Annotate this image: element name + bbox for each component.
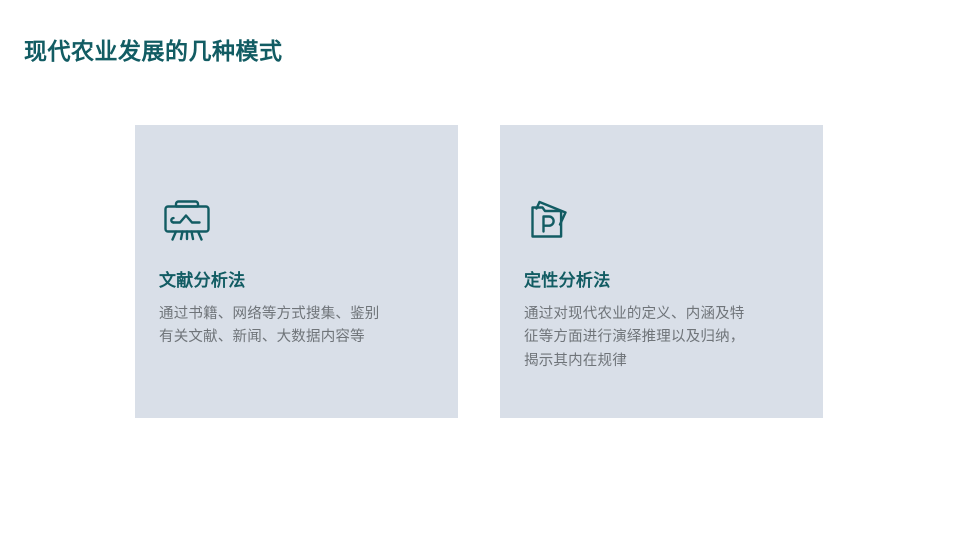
card-title: 文献分析法 [159,270,246,292]
card-title: 定性分析法 [524,270,611,292]
card-dingxing-fenxifa[interactable]: 定性分析法 通过对现代农业的定义、内涵及特 征等方面进行演绎推理以及归纳， 揭示… [500,125,823,418]
card-description: 通过对现代农业的定义、内涵及特 征等方面进行演绎推理以及归纳， 揭示其内在规律 [524,303,809,373]
page-title: 现代农业发展的几种模式 [24,37,283,67]
card-wenxian-fenxifa[interactable]: 文献分析法 通过书籍、网络等方式搜集、鉴别 有关文献、新闻、大数据内容等 [135,125,458,418]
folder-p-icon [524,193,580,249]
card-container: 文献分析法 通过书籍、网络等方式搜集、鉴别 有关文献、新闻、大数据内容等 定性分… [135,125,823,418]
card-description: 通过书籍、网络等方式搜集、鉴别 有关文献、新闻、大数据内容等 [159,303,444,350]
presentation-board-chart-icon [159,193,215,249]
